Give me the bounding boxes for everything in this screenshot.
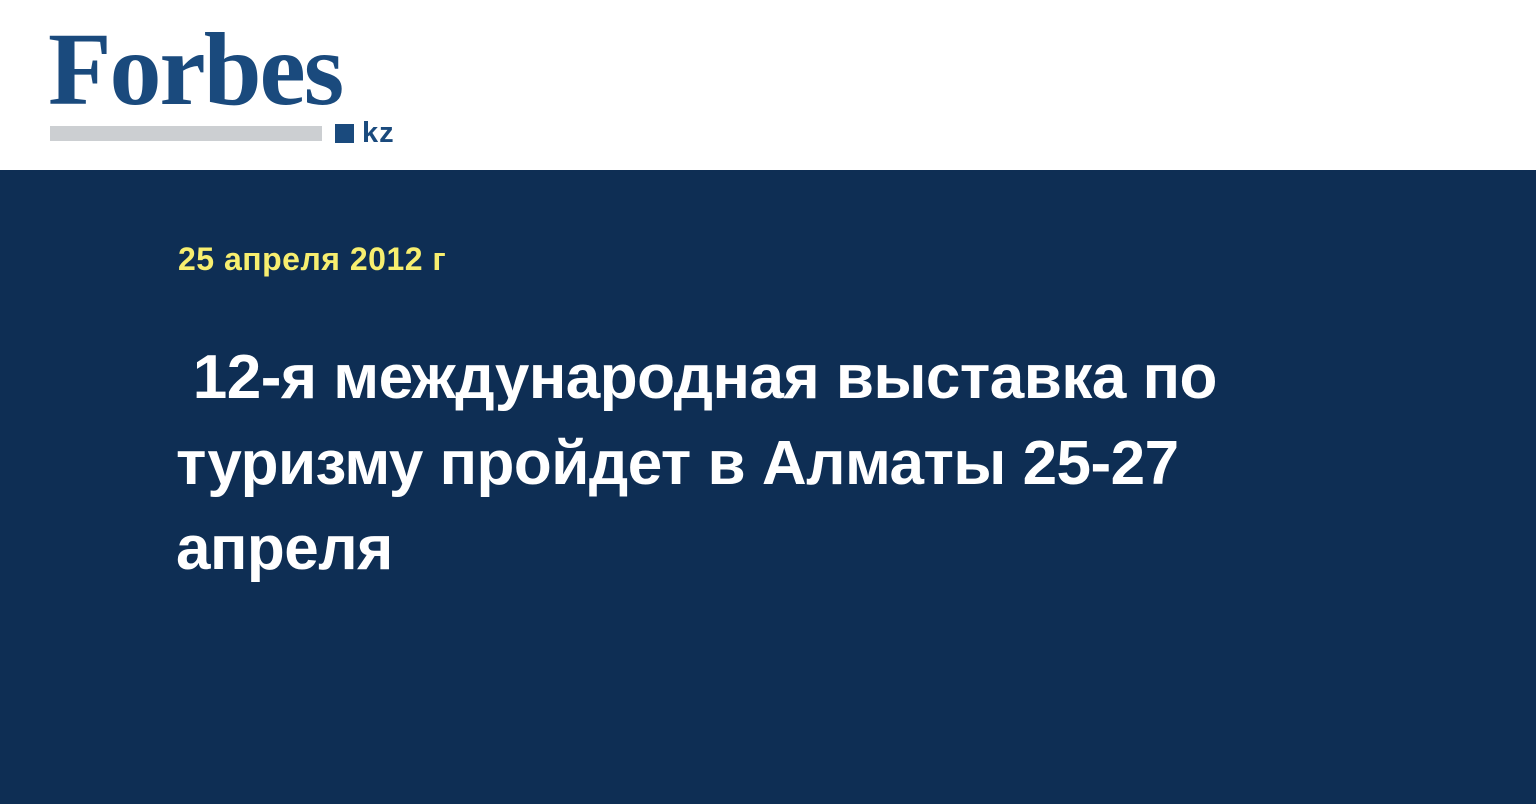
article-date: 25 апреля 2012 г <box>178 242 1416 277</box>
logo-underline-row: kz <box>50 120 408 146</box>
logo-kz-label: kz <box>362 119 395 148</box>
forbes-wordmark: Forbes <box>48 22 408 118</box>
logo-rule <box>50 126 322 141</box>
site-header: Forbes kz <box>0 0 1536 170</box>
logo-square-icon <box>335 124 354 143</box>
hero-content: 25 апреля 2012 г 12-я международная выст… <box>176 242 1416 592</box>
hero-banner: 25 апреля 2012 г 12-я международная выст… <box>0 170 1536 804</box>
forbes-kz-logo[interactable]: Forbes kz <box>48 22 408 146</box>
article-title: 12-я международная выставка по туризму п… <box>176 335 1406 592</box>
article-hero-page: Forbes kz 25 апреля 2012 г 12-я междунар… <box>0 0 1536 804</box>
